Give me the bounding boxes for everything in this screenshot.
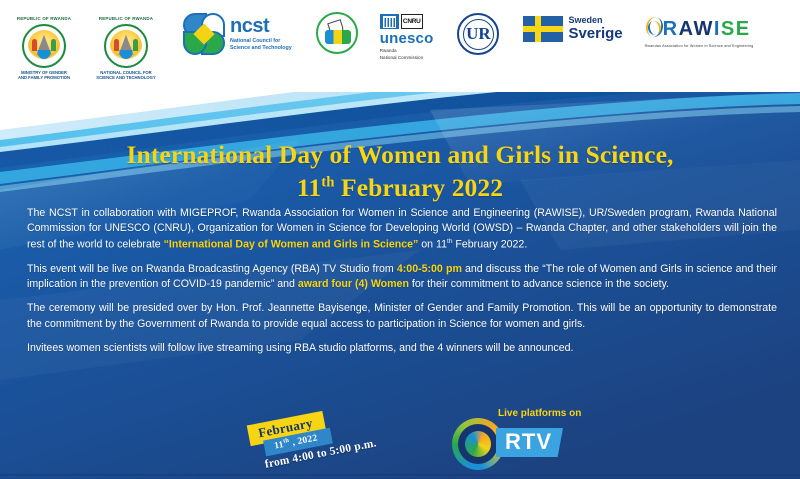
paragraph-2: This event will be live on Rwanda Broadc… bbox=[27, 262, 777, 293]
paragraph-3: The ceremony will be presided over by Ho… bbox=[27, 301, 777, 332]
paragraph-1: The NCST in collaboration with MIGEPROF,… bbox=[27, 206, 777, 253]
body-text: The NCST in collaboration with MIGEPROF,… bbox=[27, 206, 777, 365]
page-title: International Day of Women and Girls in … bbox=[0, 139, 800, 204]
rtv-live-label: Live platforms on bbox=[498, 408, 581, 419]
date-badge: February 11th , 2022 from 4:00 to 5:00 p… bbox=[238, 408, 408, 474]
rtv-badge: Live platforms on RTV bbox=[452, 406, 602, 476]
title-line-1: International Day of Women and Girls in … bbox=[127, 140, 674, 169]
rtv-channel-text: RTV bbox=[496, 428, 563, 457]
title-line-2: 11th February 2022 bbox=[297, 173, 503, 202]
paragraph-4: Invitees women scientists will follow li… bbox=[27, 341, 777, 356]
poster-content: International Day of Women and Girls in … bbox=[0, 0, 800, 479]
event-poster: REPUBLIC OF RWANDA MINISTRY OF GENDER AN… bbox=[0, 0, 800, 479]
